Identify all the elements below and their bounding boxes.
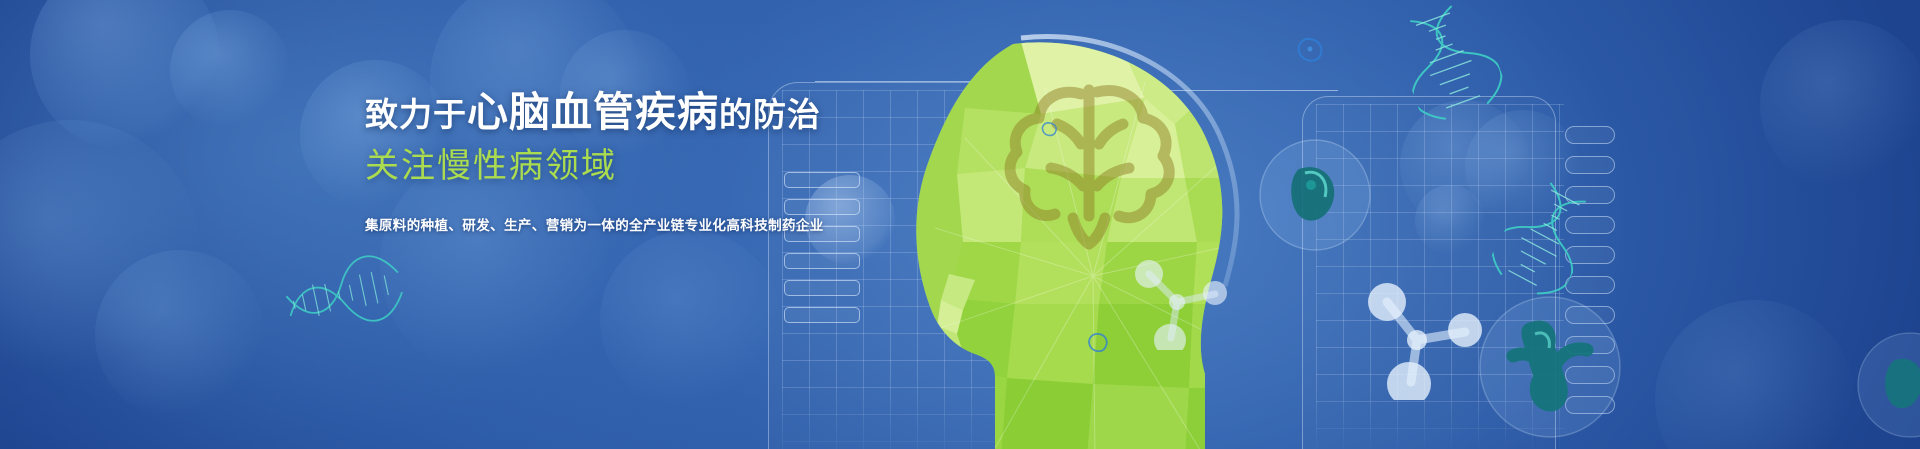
hero-banner: 致力于心脑血管疾病的防治 关注慢性病领域 集原料的种植、研发、生产、营销为一体的… <box>0 0 1920 449</box>
bacteria-icon <box>1855 330 1920 440</box>
bokeh-circle <box>1465 110 1580 225</box>
hud-pill <box>1565 186 1615 204</box>
headline-prefix: 致力于 <box>365 96 467 133</box>
subheadline: 关注慢性病领域 <box>365 149 824 183</box>
bokeh-circle <box>1400 100 1530 230</box>
bokeh-circle <box>95 250 265 420</box>
hud-pill <box>1565 126 1615 144</box>
hero-copy: 致力于心脑血管疾病的防治 关注慢性病领域 集原料的种植、研发、生产、营销为一体的… <box>365 92 824 234</box>
hud-pill <box>1565 276 1615 294</box>
hud-frame <box>1302 96 1556 449</box>
hud-pill <box>1565 306 1615 324</box>
headline-suffix: 的防治 <box>719 96 821 133</box>
molecule-icon <box>1355 270 1495 400</box>
headline-emphasis: 心脑血管疾病 <box>467 89 719 135</box>
dna-helix-icon <box>279 246 411 339</box>
headline: 致力于心脑血管疾病的防治 <box>365 92 824 133</box>
hud-pill <box>1565 246 1615 264</box>
bokeh-circle <box>600 230 780 410</box>
low-poly-head-illustration <box>845 28 1265 449</box>
hud-pill <box>1565 396 1615 414</box>
bokeh-circle <box>30 0 220 150</box>
microbe-speck-icon <box>1294 36 1326 64</box>
bokeh-circle <box>170 10 290 130</box>
hud-pill <box>1565 336 1615 354</box>
bokeh-circle <box>0 120 200 380</box>
bacteria-icon <box>1475 292 1625 442</box>
dna-helix-icon <box>1389 0 1511 130</box>
bokeh-circle <box>1655 300 1855 449</box>
hud-pill <box>1565 216 1615 234</box>
hud-panel-right <box>1280 60 1660 449</box>
hero-description: 集原料的种植、研发、生产、营销为一体的全产业链专业化高科技制药企业 <box>365 214 824 234</box>
hud-pill <box>1565 366 1615 384</box>
hud-pill <box>1565 156 1615 174</box>
hud-grid <box>1316 104 1564 449</box>
bacteria-icon <box>1255 135 1375 255</box>
bokeh-circle <box>1415 185 1485 255</box>
bokeh-circle <box>1760 20 1920 190</box>
dna-helix-icon <box>1484 173 1606 308</box>
